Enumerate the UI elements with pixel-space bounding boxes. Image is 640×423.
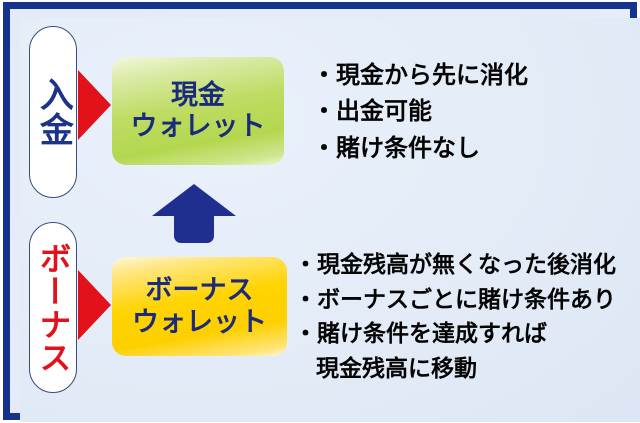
- cash-wallet-box: 現金 ウォレット: [112, 57, 284, 165]
- bonus-bullet-3: ・賭け条件を達成すれば: [294, 317, 616, 352]
- cash-wallet-bullets: ・現金から先に消化 ・出金可能 ・賭け条件なし: [312, 57, 528, 166]
- bonus-label-pill: ボーナス: [29, 222, 77, 393]
- cash-bullet-2: ・出金可能: [312, 93, 528, 129]
- diagram-canvas: 入金 現金 ウォレット ・現金から先に消化 ・出金可能 ・賭け条件なし ボーナス…: [0, 0, 640, 423]
- red-triangle-right-icon-bonus: [78, 270, 111, 340]
- cash-wallet-line1: 現金: [171, 80, 225, 111]
- bonus-bullet-2: ・ボーナスごとに賭け条件あり: [294, 283, 616, 318]
- bonus-bullet-3-continuation: 現金残高に移動: [294, 352, 616, 387]
- red-triangle-right-icon-deposit: [78, 70, 111, 140]
- bonus-wallet-line1: ボーナス: [146, 275, 254, 306]
- navy-arrow-up-icon: [150, 182, 238, 244]
- bonus-wallet-box: ボーナス ウォレット: [112, 257, 287, 356]
- bonus-bullet-1: ・現金残高が無くなった後消化: [294, 248, 616, 283]
- bonus-wallet-line2: ウォレット: [132, 307, 267, 338]
- cash-bullet-1: ・現金から先に消化: [312, 57, 528, 93]
- cash-wallet-line2: ウォレット: [131, 111, 266, 142]
- bonus-wallet-bullets: ・現金残高が無くなった後消化 ・ボーナスごとに賭け条件あり ・賭け条件を達成すれ…: [294, 248, 616, 386]
- deposit-label-text: 入金: [36, 77, 71, 147]
- deposit-label-pill: 入金: [29, 26, 77, 198]
- bonus-label-text: ボーナス: [37, 242, 70, 374]
- cash-bullet-3: ・賭け条件なし: [312, 130, 528, 166]
